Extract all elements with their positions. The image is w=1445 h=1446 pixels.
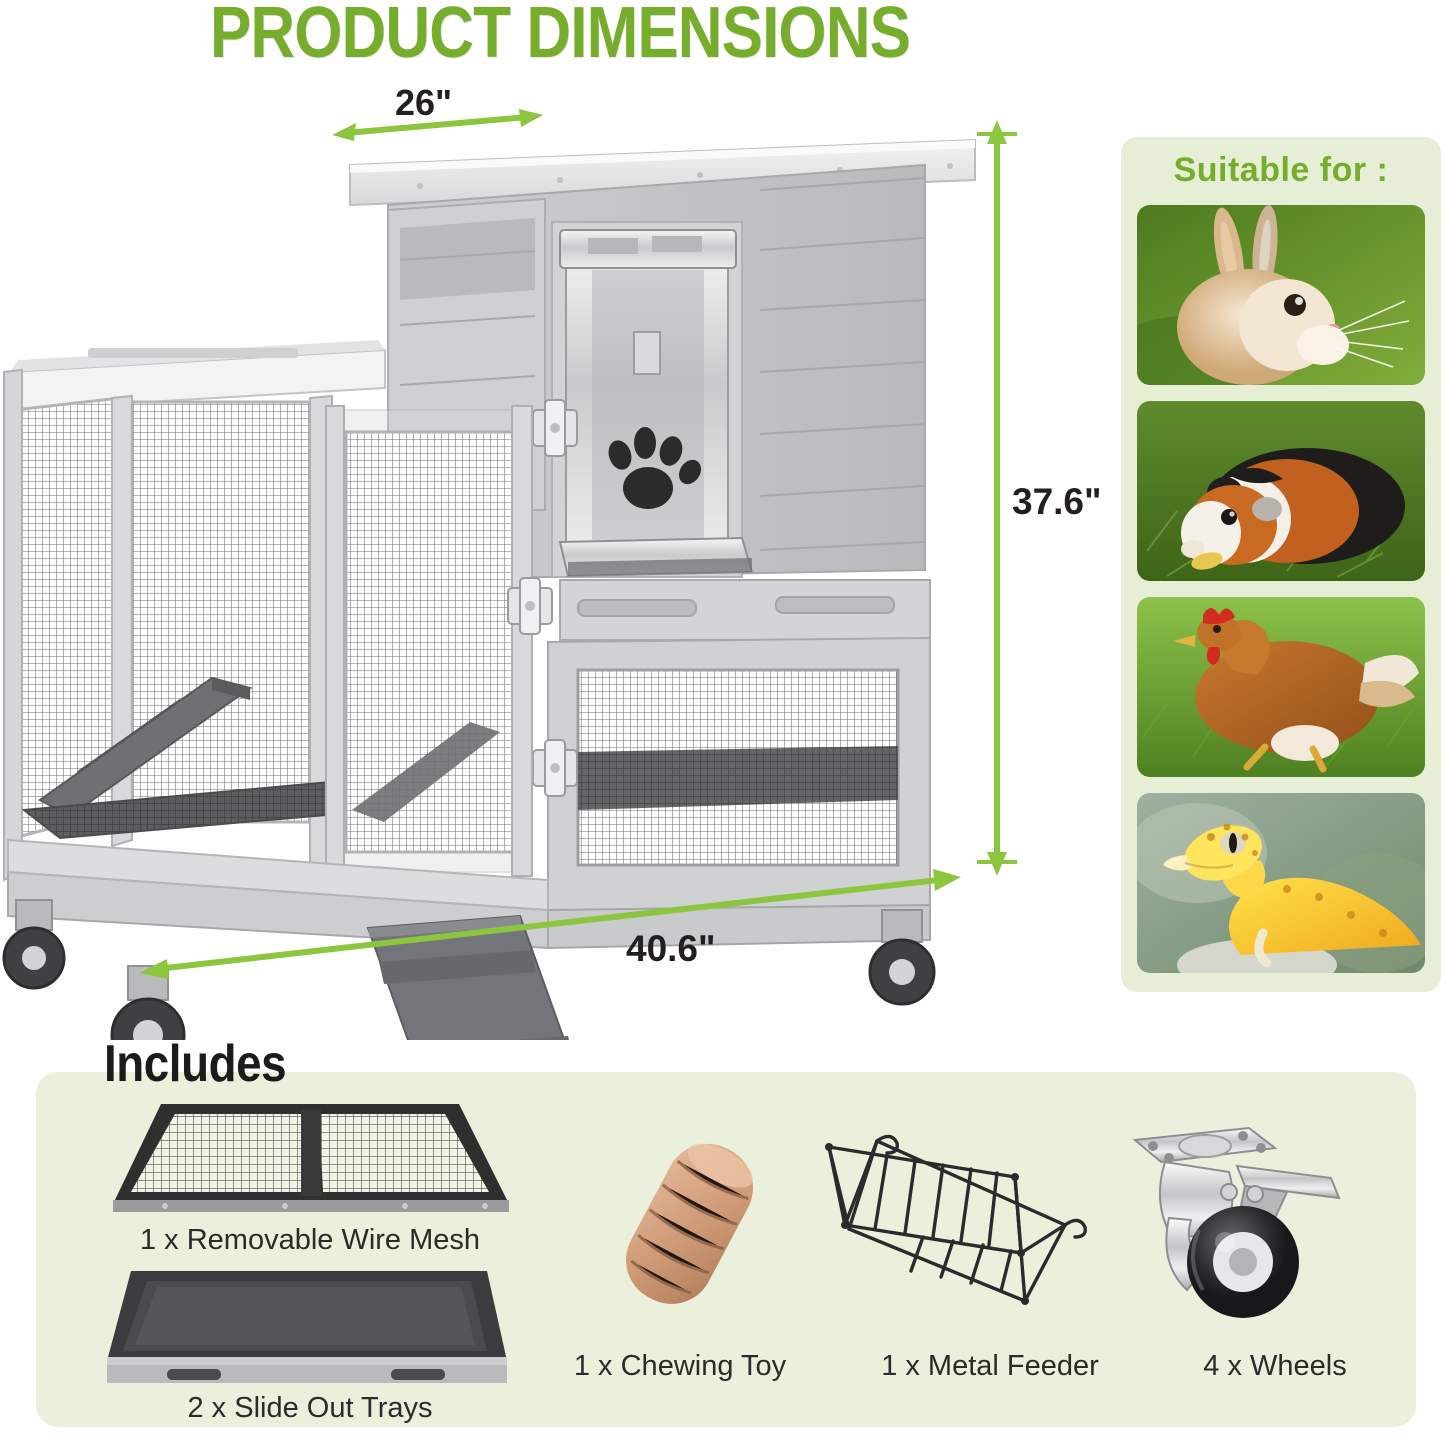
height-dimension-label: 37.6" xyxy=(1012,481,1102,523)
chewing-toy-icon xyxy=(580,1118,800,1328)
includes-caption-wheels: 4 x Wheels xyxy=(1130,1350,1420,1383)
pet-photo-guinea-pig xyxy=(1137,401,1425,581)
includes-title: Includes xyxy=(104,1034,286,1094)
product-dimensions-infographic: PRODUCT DIMENSIONS xyxy=(0,0,1445,1446)
suitable-for-title: Suitable for : xyxy=(1121,151,1441,190)
metal-feeder-icon xyxy=(815,1125,1105,1325)
length-dimension-label: 40.6" xyxy=(626,928,716,970)
wire-mesh-icon xyxy=(105,1100,515,1220)
includes-caption-metal-feeder: 1 x Metal Feeder xyxy=(830,1350,1150,1383)
length-arrow xyxy=(135,865,965,985)
pet-photo-gecko xyxy=(1137,793,1425,973)
page-title: PRODUCT DIMENSIONS xyxy=(78,0,1041,74)
includes-caption-wire-mesh: 1 x Removable Wire Mesh xyxy=(60,1224,560,1257)
suitable-for-panel: Suitable for : xyxy=(1121,137,1441,992)
caster-wheel-icon xyxy=(1125,1122,1355,1327)
includes-caption-chewing-toy: 1 x Chewing Toy xyxy=(520,1350,840,1383)
pet-photo-chicken xyxy=(1137,597,1425,777)
pet-photo-rabbit xyxy=(1137,205,1425,385)
includes-caption-slide-out-trays: 2 x Slide Out Trays xyxy=(60,1392,560,1425)
width-dimension-label: 26" xyxy=(395,82,452,124)
slide-out-tray-icon xyxy=(95,1265,515,1390)
